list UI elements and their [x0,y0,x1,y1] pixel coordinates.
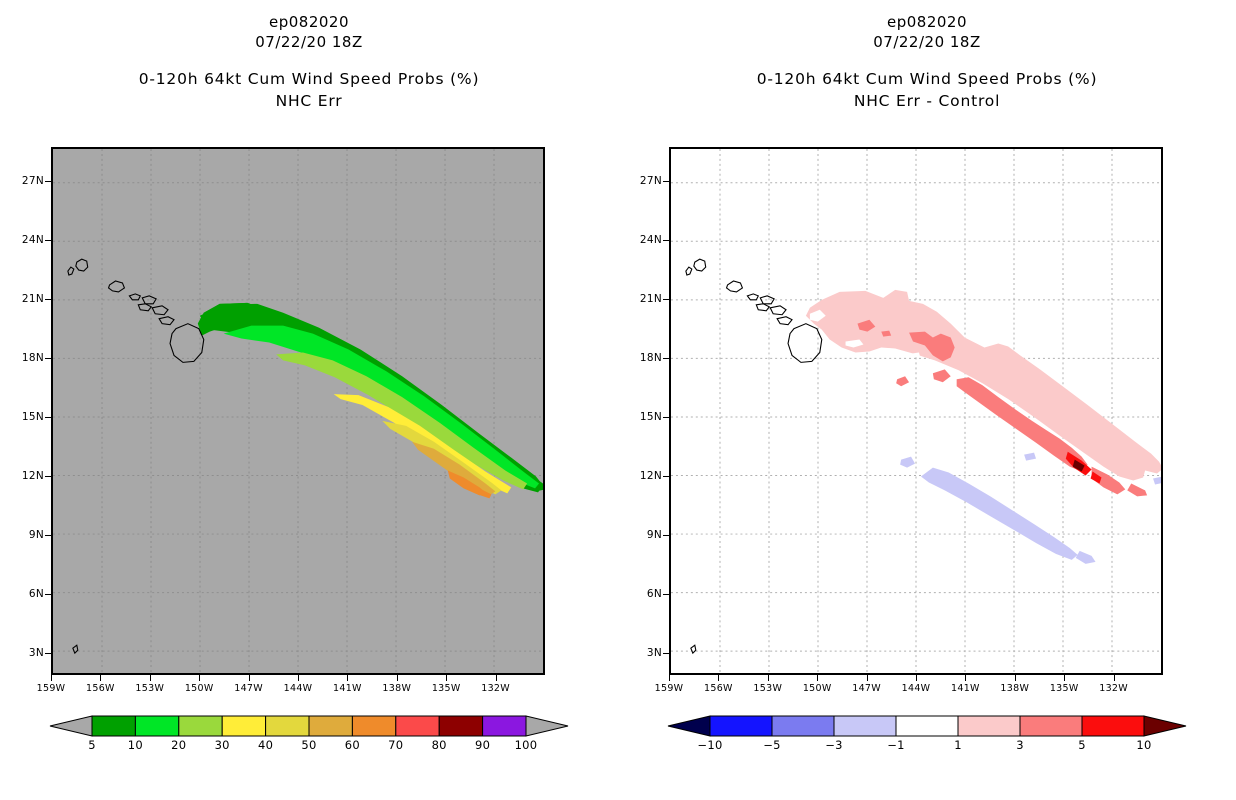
hawaii-coastline-right [686,259,822,653]
colorbar-left-label-60: 60 [345,738,360,752]
xtick-label-141w: 141W [951,683,980,694]
colorbar-left-svg [32,714,586,738]
xtick-label-159w: 159W [37,683,66,694]
xtick-mark-138w [1015,675,1016,681]
ytick-mark-24n [663,240,669,241]
ytick-label-3n: 3N [618,647,662,659]
xtick-label-159w: 159W [655,683,684,694]
xtick-mark-156w [718,675,719,681]
ytick-label-6n: 6N [618,588,662,600]
map-plot-area-right [669,147,1163,675]
xtick-label-153w: 153W [135,683,164,694]
xtick-mark-144w [916,675,917,681]
panel-right-titles: ep082020 07/22/20 18Z 0-120h 64kt Cum Wi… [618,12,1236,112]
chart-subtitle: NHC Err - Control [618,90,1236,112]
ytick-label-18n: 18N [0,352,44,364]
colorbar-right-label-pos5: 5 [1078,738,1086,752]
chart-subtitle: NHC Err [0,90,618,112]
xtick-mark-153w [150,675,151,681]
xtick-label-135w: 135W [432,683,461,694]
map-plot-area-left [51,147,545,675]
ytick-mark-6n [45,594,51,595]
xtick-mark-150w [817,675,818,681]
colorbar-left-label-20: 20 [171,738,186,752]
xtick-mark-135w [446,675,447,681]
colorbar-right-label-neg3: −3 [825,738,843,752]
xtick-mark-144w [298,675,299,681]
hawaii-coastline-left [68,259,204,653]
xtick-label-156w: 156W [704,683,733,694]
ytick-mark-6n [663,594,669,595]
xtick-label-150w: 150W [185,683,214,694]
xtick-label-141w: 141W [333,683,362,694]
xtick-mark-138w [397,675,398,681]
colorbar-right-label-pos10: 10 [1136,738,1151,752]
panel-nhc-err-minus-control: ep082020 07/22/20 18Z 0-120h 64kt Cum Wi… [618,0,1236,800]
xtick-mark-150w [199,675,200,681]
xtick-mark-141w [347,675,348,681]
xtick-mark-159w [51,675,52,681]
storm-id-label: ep082020 [0,12,618,32]
xtick-mark-159w [669,675,670,681]
ytick-mark-15n [45,417,51,418]
ytick-mark-9n [45,535,51,536]
chart-title: 0-120h 64kt Cum Wind Speed Probs (%) [618,68,1236,90]
xtick-label-153w: 153W [753,683,782,694]
colorbar-left-label-90: 90 [475,738,490,752]
colorbar-right-arrow-low [668,716,710,736]
colorbar-left-label-10: 10 [128,738,143,752]
xtick-label-144w: 144W [284,683,313,694]
xtick-label-144w: 144W [902,683,931,694]
xtick-label-138w: 138W [1000,683,1029,694]
valid-date-label: 07/22/20 18Z [0,32,618,52]
xtick-mark-132w [496,675,497,681]
xtick-mark-153w [768,675,769,681]
ytick-label-9n: 9N [618,529,662,541]
xtick-label-138w: 138W [382,683,411,694]
colorbar-left-arrow-high [526,716,568,736]
difference-contours-right [806,290,1161,564]
ytick-label-27n: 27N [618,175,662,187]
xtick-label-132w: 132W [481,683,510,694]
ytick-label-9n: 9N [0,529,44,541]
colorbar-right-label-neg1: −1 [887,738,905,752]
xtick-label-150w: 150W [803,683,832,694]
colorbar-left: 5 10 20 30 40 50 60 70 80 90 100 [32,714,586,774]
map-left-svg [53,149,543,673]
storm-id-label: ep082020 [618,12,1236,32]
colorbar-left-label-80: 80 [432,738,447,752]
xtick-mark-135w [1064,675,1065,681]
colorbar-right-label-pos1: 1 [954,738,962,752]
ytick-label-15n: 15N [0,411,44,423]
colorbar-right-arrow-high [1144,716,1186,736]
colorbar-left-label-50: 50 [301,738,316,752]
ytick-mark-12n [45,476,51,477]
colorbar-left-label-30: 30 [215,738,230,752]
panel-nhc-err: ep082020 07/22/20 18Z 0-120h 64kt Cum Wi… [0,0,618,800]
xtick-mark-147w [867,675,868,681]
xtick-label-132w: 132W [1099,683,1128,694]
colorbar-left-label-40: 40 [258,738,273,752]
gridlines-left [53,149,543,673]
ytick-label-24n: 24N [618,234,662,246]
ytick-mark-18n [663,358,669,359]
ytick-label-12n: 12N [0,470,44,482]
xtick-mark-132w [1114,675,1115,681]
chart-title: 0-120h 64kt Cum Wind Speed Probs (%) [0,68,618,90]
xtick-label-135w: 135W [1050,683,1079,694]
colorbar-right: −10 −5 −3 −1 1 3 5 10 [650,714,1204,774]
ytick-label-27n: 27N [0,175,44,187]
ytick-mark-24n [45,240,51,241]
colorbar-left-label-100: 100 [515,738,538,752]
xtick-label-156w: 156W [86,683,115,694]
ytick-mark-27n [663,181,669,182]
ytick-label-21n: 21N [618,293,662,305]
colorbar-right-label-neg10: −10 [697,738,722,752]
ytick-label-3n: 3N [0,647,44,659]
colorbar-right-label-neg5: −5 [763,738,781,752]
ytick-mark-21n [45,299,51,300]
probability-contours-left [198,303,543,499]
panel-left-titles: ep082020 07/22/20 18Z 0-120h 64kt Cum Wi… [0,12,618,112]
ytick-mark-3n [45,653,51,654]
ytick-mark-21n [663,299,669,300]
map-right-svg [671,149,1161,673]
ytick-mark-18n [45,358,51,359]
ytick-mark-15n [663,417,669,418]
ytick-mark-9n [663,535,669,536]
xtick-label-147w: 147W [234,683,263,694]
ytick-label-15n: 15N [618,411,662,423]
ytick-label-6n: 6N [0,588,44,600]
ytick-mark-3n [663,653,669,654]
ytick-label-12n: 12N [618,470,662,482]
colorbar-left-arrow-low [50,716,92,736]
ytick-label-18n: 18N [618,352,662,364]
xtick-mark-147w [249,675,250,681]
ytick-mark-27n [45,181,51,182]
xtick-mark-156w [100,675,101,681]
xtick-label-147w: 147W [852,683,881,694]
ytick-label-21n: 21N [0,293,44,305]
colorbar-right-label-pos3: 3 [1016,738,1024,752]
colorbar-left-label-70: 70 [388,738,403,752]
valid-date-label: 07/22/20 18Z [618,32,1236,52]
ytick-label-24n: 24N [0,234,44,246]
xtick-mark-141w [965,675,966,681]
colorbar-left-label-5: 5 [88,738,96,752]
colorbar-right-svg [650,714,1204,738]
ytick-mark-12n [663,476,669,477]
